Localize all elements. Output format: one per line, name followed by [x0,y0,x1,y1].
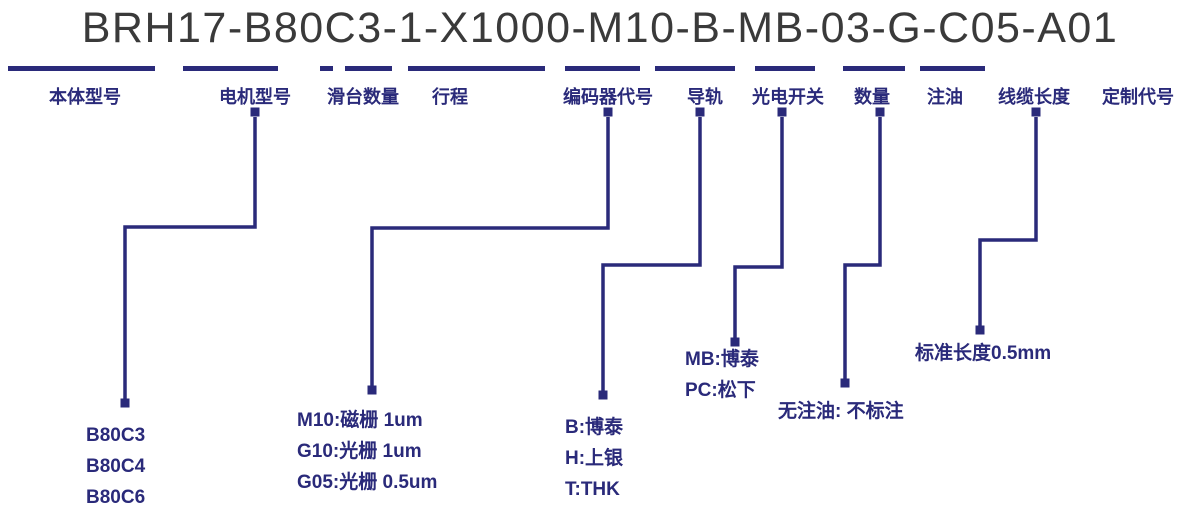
segment-label-guide-rail: 导轨 [678,86,732,108]
annotation-line: B80C4 [86,451,145,482]
leader-line-path-body-model [125,117,255,403]
annotation-line: 无注油: 不标注 [778,396,904,427]
leader-line-path-guide-rail [735,117,782,342]
segment-label-encoder-code: 编码器代号 [548,86,668,108]
segment-label-stroke: 行程 [420,86,480,108]
annot-oiling: 无注油: 不标注 [778,396,904,427]
annot-motor-model: M10:磁栅 1umG10:光栅 1umG05:光栅 0.5um [297,405,437,498]
annotation-line: T:THK [565,474,623,505]
segment-bar-guide-rail [565,66,640,71]
leader-endpoint-path-motor-model [368,386,377,395]
leader-origin-tip-body-model [251,108,260,117]
segment-label-custom-code: 定制代号 [1092,86,1184,108]
segment-bar-custom-code [920,66,985,71]
annotation-line: 标准长度0.5mm [915,338,1051,369]
leader-endpoint-path-encoder-code [599,391,608,400]
leader-origin-tip-oiling [1032,108,1041,117]
leader-line-path-oiling [980,117,1036,330]
leader-endpoint-path-body-model [121,399,130,408]
segment-bar-quantity [700,66,735,71]
segment-bar-oiling [755,66,815,71]
segment-label-body-model: 本体型号 [30,86,140,108]
leader-endpoint-path-photo-switch [841,379,850,388]
leader-line-path-motor-model [372,117,608,390]
leader-origin-tip-encoder-code [696,108,705,117]
segment-label-photo-switch: 光电开关 [742,86,834,108]
annotation-line: B80C6 [86,482,145,513]
segment-bar-motor-model [183,66,278,71]
model-number-title: BRH17-B80C3-1-X1000-M10-B-MB-03-G-C05-A0… [0,4,1200,53]
segment-bar-photo-switch [655,66,700,71]
segment-bar-body-model [8,66,155,71]
leader-origin-tip-guide-rail [778,108,787,117]
annotation-line: B:博泰 [565,412,623,443]
segment-bar-cable-length [843,66,905,71]
annotation-line: MB:博泰 [685,344,759,375]
annot-encoder-code: B:博泰H:上银T:THK [565,412,623,505]
annotation-line: G05:光栅 0.5um [297,467,437,498]
leader-endpoint-path-oiling [976,326,985,335]
leader-line-path-photo-switch [845,117,880,383]
model-number-breakdown-diagram: BRH17-B80C3-1-X1000-M10-B-MB-03-G-C05-A0… [0,0,1200,514]
segment-label-slide-count: 滑台数量 [318,86,408,108]
annotation-line: H:上银 [565,443,623,474]
segment-bar-encoder-code [408,66,545,71]
segment-bar-slide-count [320,66,333,71]
segment-label-quantity: 数量 [845,86,899,108]
leader-origin-tip-motor-model [604,108,613,117]
annotation-line: PC:松下 [685,375,759,406]
annotation-line: G10:光栅 1um [297,436,437,467]
segment-label-cable-length: 线缆长度 [988,86,1080,108]
segment-label-motor-model: 电机型号 [200,86,310,108]
annotation-line: M10:磁栅 1um [297,405,437,436]
leader-origin-tip-photo-switch [876,108,885,117]
segment-label-oiling: 注油 [918,86,972,108]
segment-bar-stroke [345,66,392,71]
annot-cable-length: 标准长度0.5mm [915,338,1051,369]
annot-guide-rail: MB:博泰PC:松下 [685,344,759,406]
annotation-line: B80C3 [86,420,145,451]
annot-body-model: B80C3B80C4B80C6 [86,420,145,513]
